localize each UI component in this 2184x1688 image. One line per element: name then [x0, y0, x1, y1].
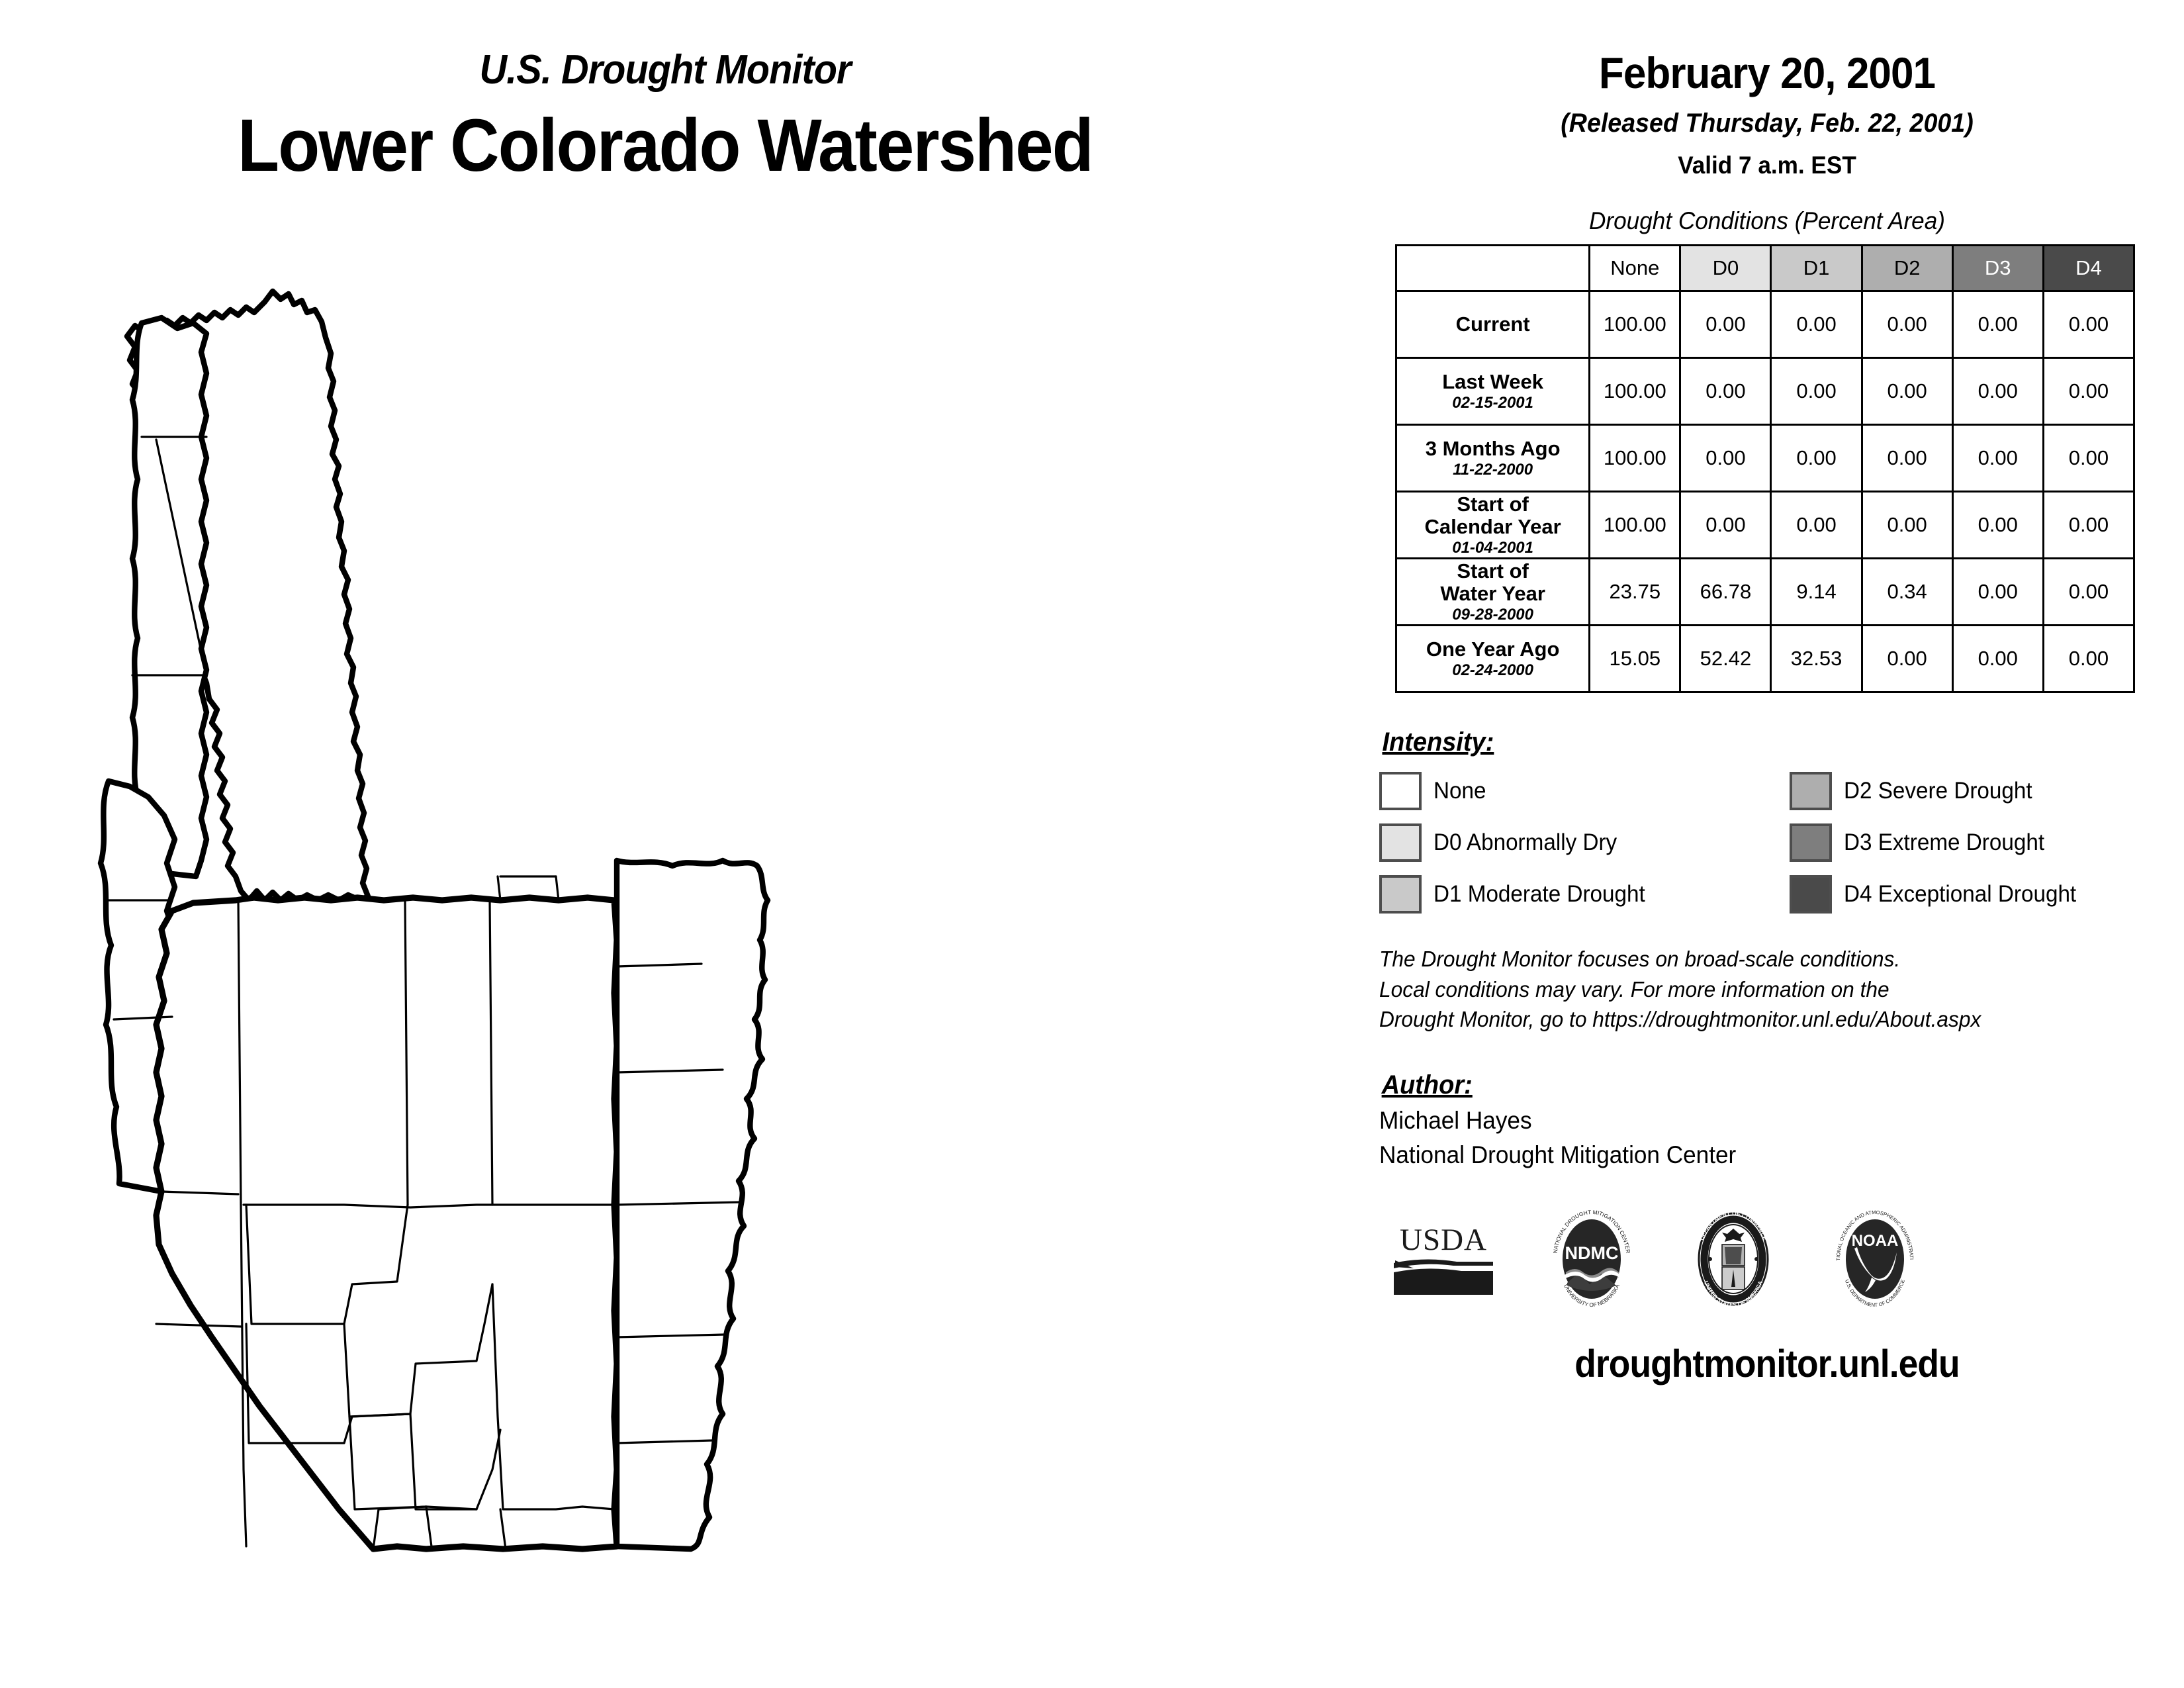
cell-d2: 0.00 [1862, 626, 1952, 692]
cell-d1: 0.00 [1771, 492, 1862, 559]
legend-label-d4: D4 Exceptional Drought [1844, 881, 2076, 908]
cell-d4: 0.00 [2043, 492, 2134, 559]
cell-d0: 0.00 [1680, 358, 1771, 425]
usda-logo: USDA [1387, 1215, 1500, 1305]
row-label-date: 11-22-2000 [1397, 461, 1588, 479]
legend-item-d1: D1 Moderate Drought [1379, 875, 1790, 914]
page-title: Lower Colorado Watershed [53, 103, 1277, 188]
row-label-line2: Calendar Year [1425, 515, 1561, 538]
legend-label-d2: D2 Severe Drought [1844, 778, 2032, 804]
cell-d1: 9.14 [1771, 559, 1862, 626]
author-heading: Author: [1382, 1070, 1473, 1100]
legend-item-d3: D3 Extreme Drought [1790, 823, 2184, 862]
legend-label-d1: D1 Moderate Drought [1433, 881, 1645, 908]
cell-none: 100.00 [1590, 425, 1680, 492]
noaa-logo: NATIONAL OCEANIC AND ATMOSPHERIC ADMINIS… [1825, 1209, 1925, 1311]
row-label-date: 01-04-2001 [1397, 539, 1588, 557]
cell-none: 100.00 [1590, 291, 1680, 358]
col-header-none: None [1590, 246, 1680, 291]
table-row: Current 100.00 0.00 0.00 0.00 0.00 0.00 [1396, 291, 2134, 358]
cell-d1: 0.00 [1771, 358, 1862, 425]
legend-item-d0: D0 Abnormally Dry [1379, 823, 1790, 862]
cell-d3: 0.00 [1952, 559, 2043, 626]
disclaimer-line-3[interactable]: Drought Monitor, go to https://droughtmo… [1379, 1004, 2152, 1035]
col-header-d1: D1 [1771, 246, 1862, 291]
doc-logo: DEPARTMENT OF COMMERCE UNITED STATES OF … [1684, 1209, 1783, 1311]
row-label-start-of-calendar-year: Start of Calendar Year 01-04-2001 [1396, 492, 1590, 559]
col-header-d2: D2 [1862, 246, 1952, 291]
cell-d3: 0.00 [1952, 425, 2043, 492]
author-affiliation: National Drought Mitigation Center [1379, 1141, 2144, 1169]
cell-d3: 0.00 [1952, 492, 2043, 559]
noaa-logo-text: NOAA [1852, 1232, 1899, 1250]
legend-grid: None D2 Severe Drought D0 Abnormally Dry… [1379, 772, 2184, 914]
disclaimer-line-2: Local conditions may vary. For more info… [1379, 974, 2152, 1005]
cell-d3: 0.00 [1952, 291, 2043, 358]
row-label-3-months-ago: 3 Months Ago 11-22-2000 [1396, 425, 1590, 492]
row-label-text: Current [1456, 312, 1530, 336]
col-header-d0: D0 [1680, 246, 1771, 291]
ndmc-logo-text: NDMC [1565, 1243, 1619, 1263]
row-label-text: Last Week [1442, 370, 1543, 393]
cell-none: 100.00 [1590, 492, 1680, 559]
disclaimer-line-1: The Drought Monitor focuses on broad-sca… [1379, 944, 2152, 974]
row-label-line2: Water Year [1440, 582, 1545, 605]
cell-d0: 0.00 [1680, 492, 1771, 559]
intensity-legend: Intensity: None D2 Severe Drought D0 Abn… [1379, 727, 2184, 914]
cell-d4: 0.00 [2043, 425, 2134, 492]
legend-item-none: None [1379, 772, 1790, 810]
legend-swatch-d4 [1790, 875, 1832, 914]
row-label-last-week: Last Week 02-15-2001 [1396, 358, 1590, 425]
author-name: Michael Hayes [1379, 1107, 2144, 1135]
table-header-row: None D0 D1 D2 D3 D4 [1396, 246, 2134, 291]
legend-swatch-none [1379, 772, 1422, 810]
site-url[interactable]: droughtmonitor.unl.edu [1383, 1342, 2150, 1386]
cell-d3: 0.00 [1952, 626, 2043, 692]
cell-d0: 66.78 [1680, 559, 1771, 626]
noaa-logo-svg: NATIONAL OCEANIC AND ATMOSPHERIC ADMINIS… [1825, 1209, 1925, 1308]
legend-item-d4: D4 Exceptional Drought [1790, 875, 2184, 914]
right-panel: February 20, 2001 (Released Thursday, Fe… [1350, 0, 2184, 1688]
cell-d4: 0.00 [2043, 559, 2134, 626]
table-row: Start of Water Year 09-28-2000 23.75 66.… [1396, 559, 2134, 626]
cell-d1: 0.00 [1771, 291, 1862, 358]
ndmc-logo: NATIONAL DROUGHT MITIGATION CENTER UNIVE… [1542, 1209, 1641, 1311]
cell-d4: 0.00 [2043, 626, 2134, 692]
cell-d2: 0.00 [1862, 291, 1952, 358]
row-label-line1: Start of [1457, 559, 1529, 583]
disclaimer: The Drought Monitor focuses on broad-sca… [1379, 944, 2152, 1035]
legend-swatch-d0 [1379, 823, 1422, 862]
legend-label-d0: D0 Abnormally Dry [1433, 829, 1617, 856]
legend-swatch-d2 [1790, 772, 1832, 810]
report-date: February 20, 2001 [1375, 48, 2159, 98]
cell-d2: 0.00 [1862, 425, 1952, 492]
cell-d2: 0.00 [1862, 358, 1952, 425]
cell-d4: 0.00 [2043, 358, 2134, 425]
legend-item-d2: D2 Severe Drought [1790, 772, 2184, 810]
table-row: One Year Ago 02-24-2000 15.05 52.42 32.5… [1396, 626, 2134, 692]
col-header-d3: D3 [1952, 246, 2043, 291]
usda-logo-svg: USDA [1387, 1215, 1500, 1301]
cell-none: 15.05 [1590, 626, 1680, 692]
row-label-date: 09-28-2000 [1397, 606, 1588, 624]
cell-d0: 52.42 [1680, 626, 1771, 692]
cell-d4: 0.00 [2043, 291, 2134, 358]
usdm-kicker: U.S. Drought Monitor [46, 46, 1283, 93]
drought-conditions-table: None D0 D1 D2 D3 D4 Current 100.00 0.00 … [1395, 244, 2135, 693]
logo-row: USDA NATIONAL DROUGHT MITIGATION CENTER … [1387, 1209, 2184, 1311]
row-label-date: 02-24-2000 [1397, 662, 1588, 679]
valid-time: Valid 7 a.m. EST [1371, 152, 2163, 179]
legend-swatch-d3 [1790, 823, 1832, 862]
legend-label-d3: D3 Extreme Drought [1844, 829, 2044, 856]
arizona-body-outline [156, 898, 617, 1549]
row-label-line1: Start of [1457, 492, 1529, 516]
doc-logo-svg: DEPARTMENT OF COMMERCE UNITED STATES OF … [1684, 1209, 1783, 1308]
legend-title: Intensity: [1382, 727, 1494, 757]
cell-d1: 32.53 [1771, 626, 1862, 692]
release-date: (Released Thursday, Feb. 22, 2001) [1375, 109, 2159, 138]
watershed-map-svg[interactable] [79, 278, 1310, 1635]
ndmc-logo-svg: NATIONAL DROUGHT MITIGATION CENTER UNIVE… [1542, 1209, 1641, 1308]
col-header-d4: D4 [2043, 246, 2134, 291]
legend-label-none: None [1433, 778, 1486, 804]
row-label-current: Current [1396, 291, 1590, 358]
table-row: Last Week 02-15-2001 100.00 0.00 0.00 0.… [1396, 358, 2134, 425]
cell-d2: 0.34 [1862, 559, 1952, 626]
row-label-one-year-ago: One Year Ago 02-24-2000 [1396, 626, 1590, 692]
row-label-date: 02-15-2001 [1397, 395, 1588, 412]
cell-d2: 0.00 [1862, 492, 1952, 559]
title-block: U.S. Drought Monitor Lower Colorado Wate… [0, 46, 1330, 188]
usda-logo-text: USDA [1400, 1223, 1487, 1257]
table-row: Start of Calendar Year 01-04-2001 100.00… [1396, 492, 2134, 559]
cell-d1: 0.00 [1771, 425, 1862, 492]
cell-d0: 0.00 [1680, 291, 1771, 358]
cell-none: 23.75 [1590, 559, 1680, 626]
cell-d0: 0.00 [1680, 425, 1771, 492]
cell-d3: 0.00 [1952, 358, 2043, 425]
watershed-map[interactable] [79, 278, 1310, 1635]
table-corner-cell [1396, 246, 1590, 291]
table-caption: Drought Conditions (Percent Area) [1371, 207, 2163, 235]
cell-none: 100.00 [1590, 358, 1680, 425]
row-label-text: One Year Ago [1426, 637, 1560, 661]
row-label-start-of-water-year: Start of Water Year 09-28-2000 [1396, 559, 1590, 626]
row-label-text: 3 Months Ago [1426, 437, 1561, 460]
table-row: 3 Months Ago 11-22-2000 100.00 0.00 0.00… [1396, 425, 2134, 492]
legend-swatch-d1 [1379, 875, 1422, 914]
